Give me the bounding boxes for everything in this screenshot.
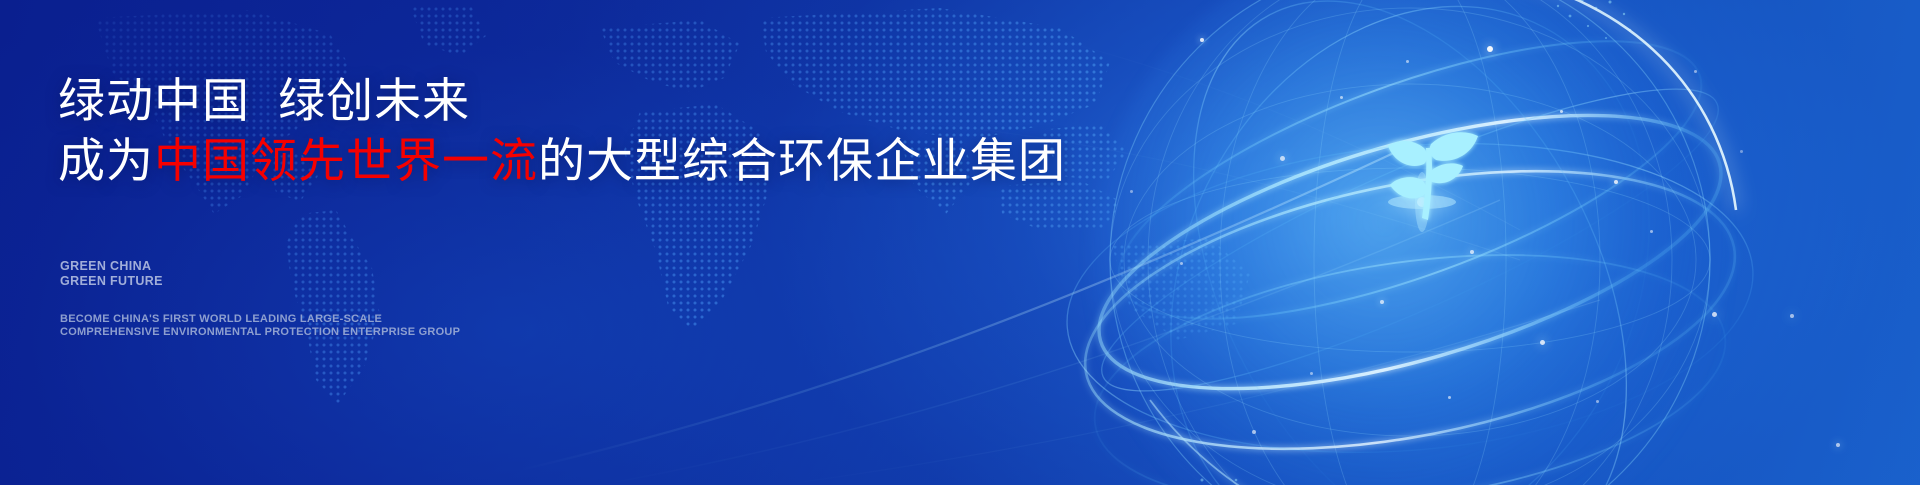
headline-line-2-accent: 中国领先世界一流 [154,134,538,187]
tagline-en-line-2: COMPREHENSIVE ENVIRONMENTAL PROTECTION E… [60,326,460,339]
headline-line-2: 成为中国领先世界一流的大型综合环保企业集团 [58,132,1058,190]
headline-block: 绿动中国 绿创未来 成为中国领先世界一流的大型综合环保企业集团 [58,72,1058,190]
globe-glow [1090,0,1730,485]
sprout-leaf-icon [1368,108,1488,226]
hero-banner: 绿动中国 绿创未来 成为中国领先世界一流的大型综合环保企业集团 GREEN CH… [0,0,1920,485]
slogan-en-line-2: GREEN FUTURE [60,274,163,289]
headline-line-2-suffix: 的大型综合环保企业集团 [538,134,1066,187]
globe-svg [1030,0,1790,485]
wireframe-globe-graphic [1030,0,1790,485]
slogan-en-line-1: GREEN CHINA [60,259,163,274]
slogan-en-block: GREEN CHINA GREEN FUTURE [60,259,163,289]
tagline-en-block: BECOME CHINA'S FIRST WORLD LEADING LARGE… [60,313,460,339]
headline-line-2-prefix: 成为 [58,134,154,187]
headline-line-1: 绿动中国 绿创未来 [58,72,1058,130]
tagline-en-line-1: BECOME CHINA'S FIRST WORLD LEADING LARGE… [60,313,460,326]
